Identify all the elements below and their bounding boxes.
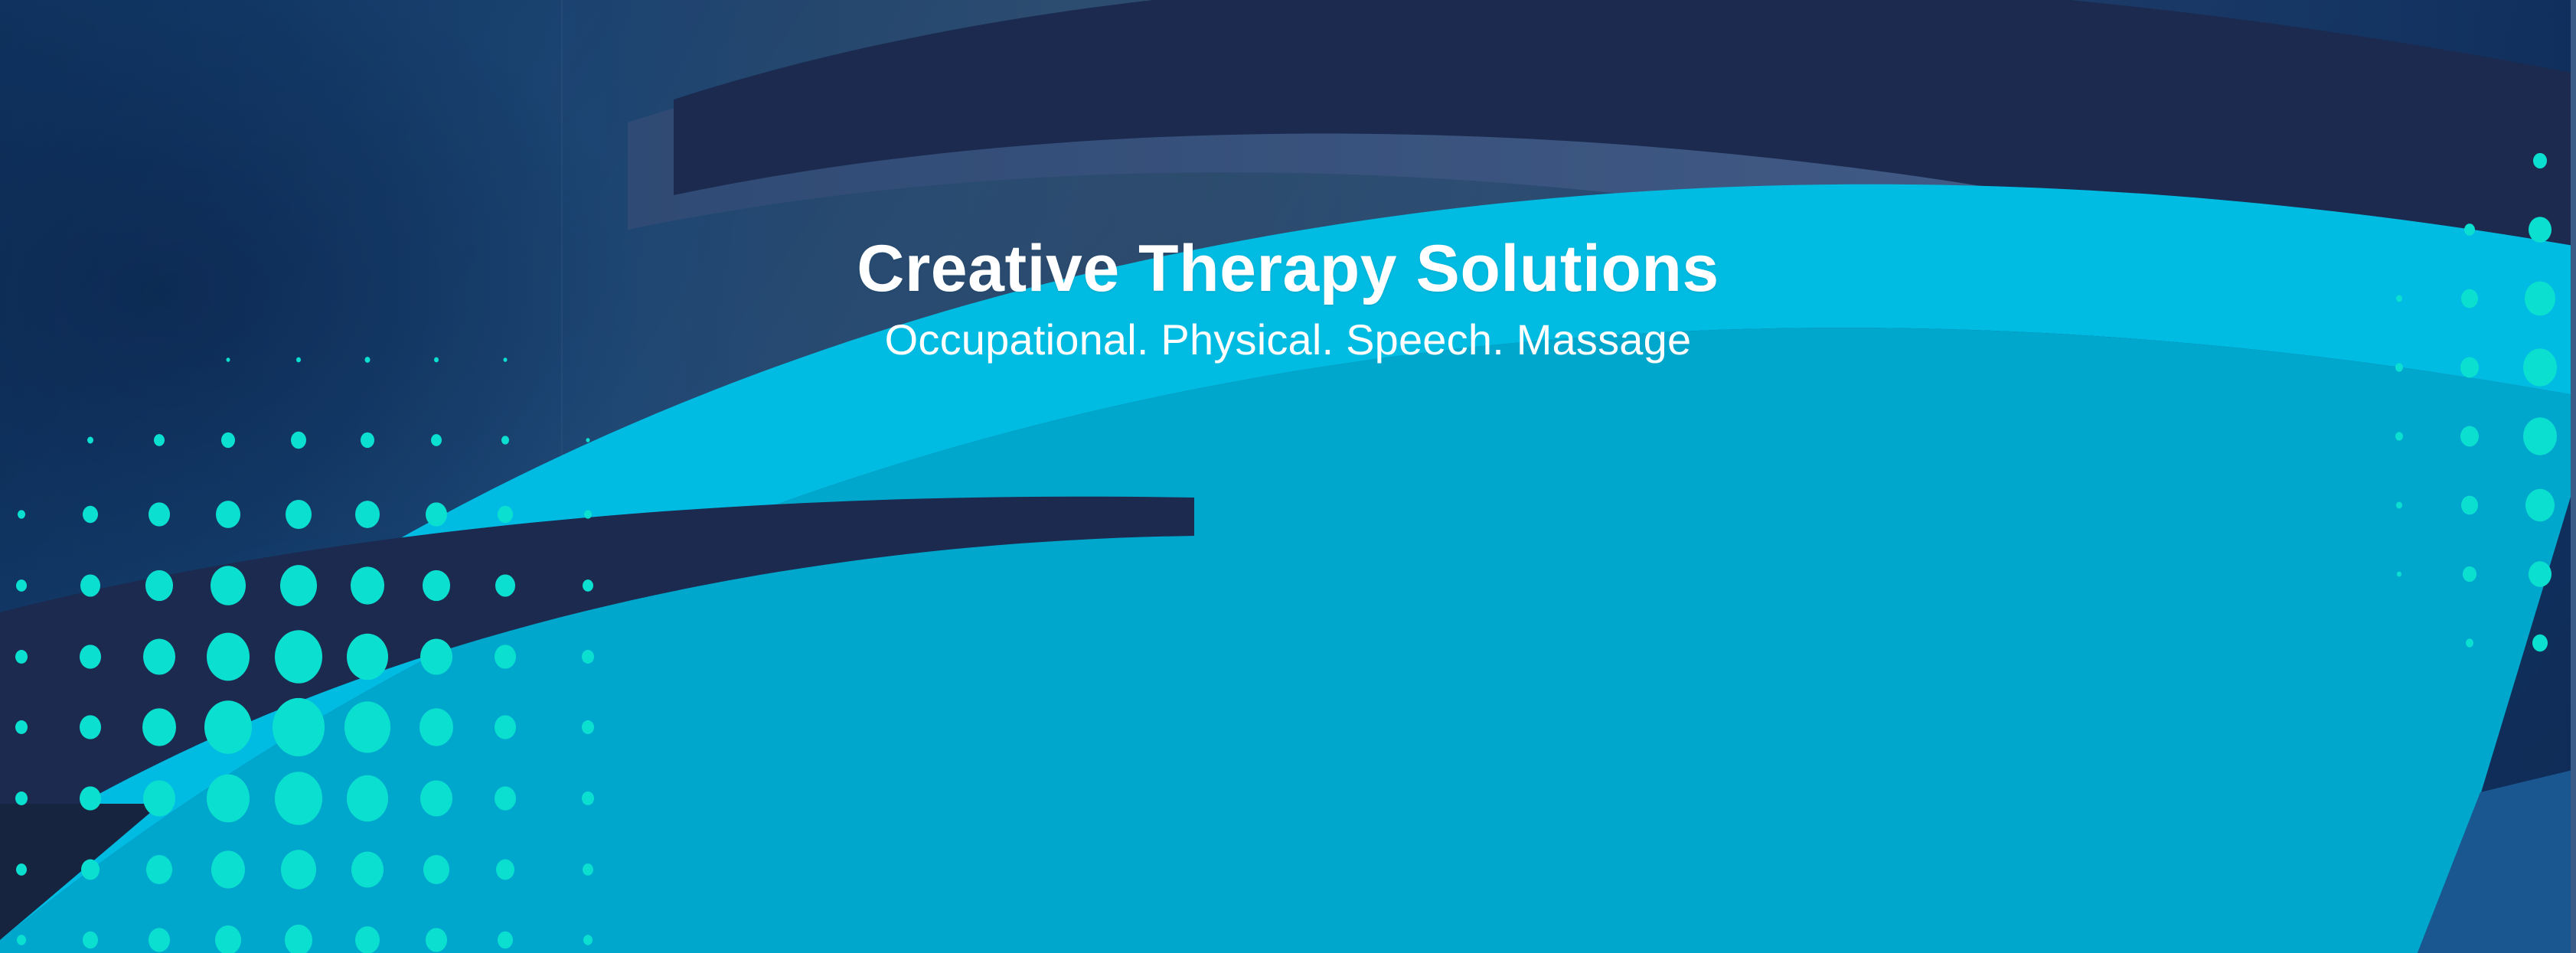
halftone-dot <box>495 645 516 668</box>
halftone-dot <box>355 501 380 528</box>
halftone-dot <box>16 579 27 592</box>
halftone-dot <box>149 928 170 951</box>
halftone-dot <box>296 357 301 363</box>
halftone-dot <box>2395 432 2403 440</box>
halftone-dot <box>216 501 240 528</box>
halftone-dot <box>285 925 312 953</box>
halftone-dot <box>495 786 516 810</box>
halftone-dot <box>204 700 252 753</box>
hero-banner: Creative Therapy Solutions Occupational.… <box>0 0 2576 953</box>
halftone-dot <box>496 860 514 880</box>
halftone-dot <box>215 925 241 953</box>
halftone-dot <box>355 926 380 953</box>
halftone-dot <box>2396 502 2402 509</box>
halftone-dot <box>582 720 594 734</box>
halftone-dot <box>423 570 450 601</box>
halftone-dot <box>154 434 165 446</box>
halftone-dot <box>501 436 509 444</box>
halftone-dot <box>80 645 101 668</box>
halftone-dot <box>2461 496 2478 515</box>
halftone-dot <box>275 630 322 683</box>
halftone-dot <box>347 775 388 821</box>
halftone-dot <box>80 786 101 810</box>
halftone-dot <box>582 791 594 805</box>
halftone-dot <box>207 775 250 823</box>
halftone-dot <box>426 502 447 526</box>
halftone-dot <box>2529 561 2552 587</box>
halftone-dot <box>583 863 593 876</box>
halftone-dot <box>351 566 384 604</box>
halftone-dot <box>2529 217 2552 243</box>
halftone-dot <box>81 860 100 880</box>
halftone-dot <box>15 650 28 664</box>
halftone-dot <box>498 506 513 523</box>
halftone-dot <box>584 510 592 518</box>
halftone-dot <box>434 357 439 363</box>
halftone-dot <box>344 701 390 752</box>
halftone-dot <box>227 357 230 362</box>
halftone-dot <box>583 579 593 592</box>
halftone-dot <box>2395 363 2403 371</box>
halftone-dot <box>420 780 452 816</box>
halftone-dot <box>15 791 28 805</box>
halftone-dot <box>2525 282 2555 316</box>
halftone-dot <box>146 855 172 884</box>
halftone-dots-layer <box>0 0 2576 953</box>
halftone-dot <box>2523 348 2557 386</box>
halftone-dot <box>351 851 384 887</box>
halftone-dot <box>280 565 317 606</box>
halftone-dot <box>221 432 235 448</box>
halftone-dot <box>275 772 322 824</box>
halftone-dot <box>80 715 101 739</box>
halftone-dot <box>582 650 594 664</box>
halftone-dot <box>426 928 447 951</box>
halftone-dot <box>2463 566 2476 582</box>
halftone-dot <box>15 720 28 734</box>
halftone-dot <box>2460 357 2479 378</box>
halftone-dot <box>431 434 442 446</box>
halftone-dot-grid-left <box>15 357 594 953</box>
halftone-dot <box>211 566 246 605</box>
halftone-dot <box>2397 572 2401 577</box>
halftone-dot <box>586 438 590 442</box>
halftone-dot <box>504 357 508 362</box>
halftone-dot <box>495 574 515 596</box>
halftone-dot <box>83 506 98 523</box>
halftone-dot <box>2460 426 2479 447</box>
halftone-dot <box>18 510 25 518</box>
halftone-dot <box>281 850 316 889</box>
halftone-dot <box>149 502 170 526</box>
halftone-dot <box>2461 289 2478 308</box>
halftone-dot <box>2464 224 2475 236</box>
halftone-dot <box>2533 153 2547 168</box>
halftone-dot <box>361 432 374 448</box>
halftone-dot <box>207 633 250 681</box>
halftone-dot <box>2525 489 2555 522</box>
halftone-dot <box>83 932 98 948</box>
halftone-dot <box>273 698 325 756</box>
halftone-dot <box>583 935 593 945</box>
halftone-dot <box>498 932 513 948</box>
halftone-dot <box>87 437 93 444</box>
halftone-dot <box>80 574 100 596</box>
halftone-dot <box>420 708 453 746</box>
halftone-dot <box>420 638 452 674</box>
halftone-dot <box>142 708 176 746</box>
halftone-dot <box>2466 638 2473 647</box>
halftone-dot <box>291 432 306 449</box>
halftone-dot <box>2532 635 2548 651</box>
halftone-dot <box>16 863 27 876</box>
halftone-dot <box>286 500 312 529</box>
halftone-dot <box>365 357 371 363</box>
halftone-dot <box>2396 295 2402 302</box>
halftone-dot <box>211 850 245 888</box>
halftone-dot <box>143 780 175 816</box>
halftone-dot <box>145 570 173 601</box>
halftone-dot <box>423 855 449 884</box>
halftone-dot <box>495 715 516 739</box>
halftone-dot <box>17 935 26 945</box>
halftone-dot-grid-right <box>2395 153 2557 651</box>
halftone-dot <box>143 638 175 674</box>
halftone-dot <box>347 634 388 680</box>
halftone-dot <box>2523 417 2557 455</box>
